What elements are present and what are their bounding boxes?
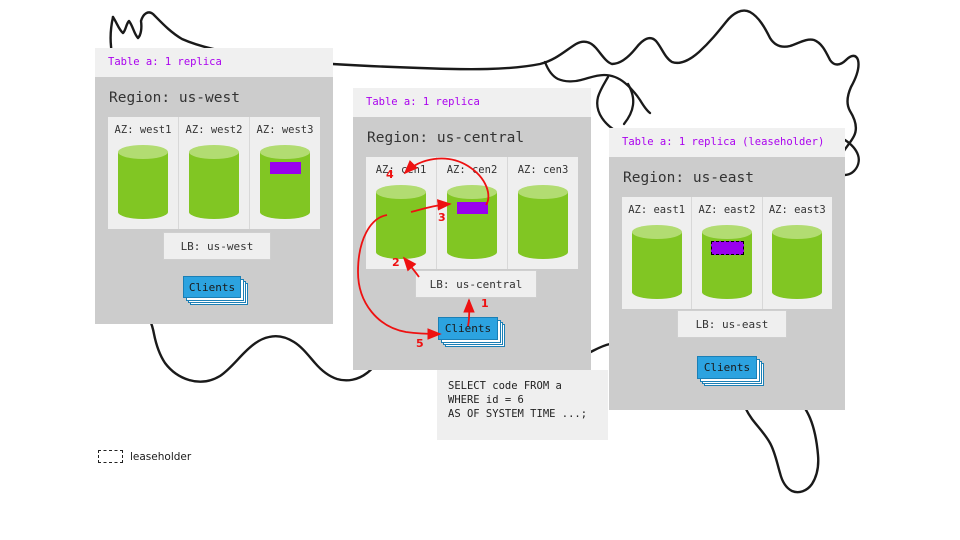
diagram-stage: Table a: 1 replica Region: us-west AZ: w…: [0, 0, 960, 540]
flow-step-number-2: 2: [392, 256, 400, 269]
flow-arrow-1: [468, 300, 469, 326]
flow-arrows: [0, 0, 960, 540]
flow-step-number-4: 4: [386, 168, 394, 181]
flow-arrow-5: [358, 215, 440, 334]
flow-step-number-1: 1: [481, 297, 489, 310]
flow-step-number-3: 3: [438, 211, 446, 224]
flow-arrow-4: [405, 159, 488, 205]
flow-arrow-2: [404, 258, 419, 277]
flow-step-number-5: 5: [416, 337, 424, 350]
